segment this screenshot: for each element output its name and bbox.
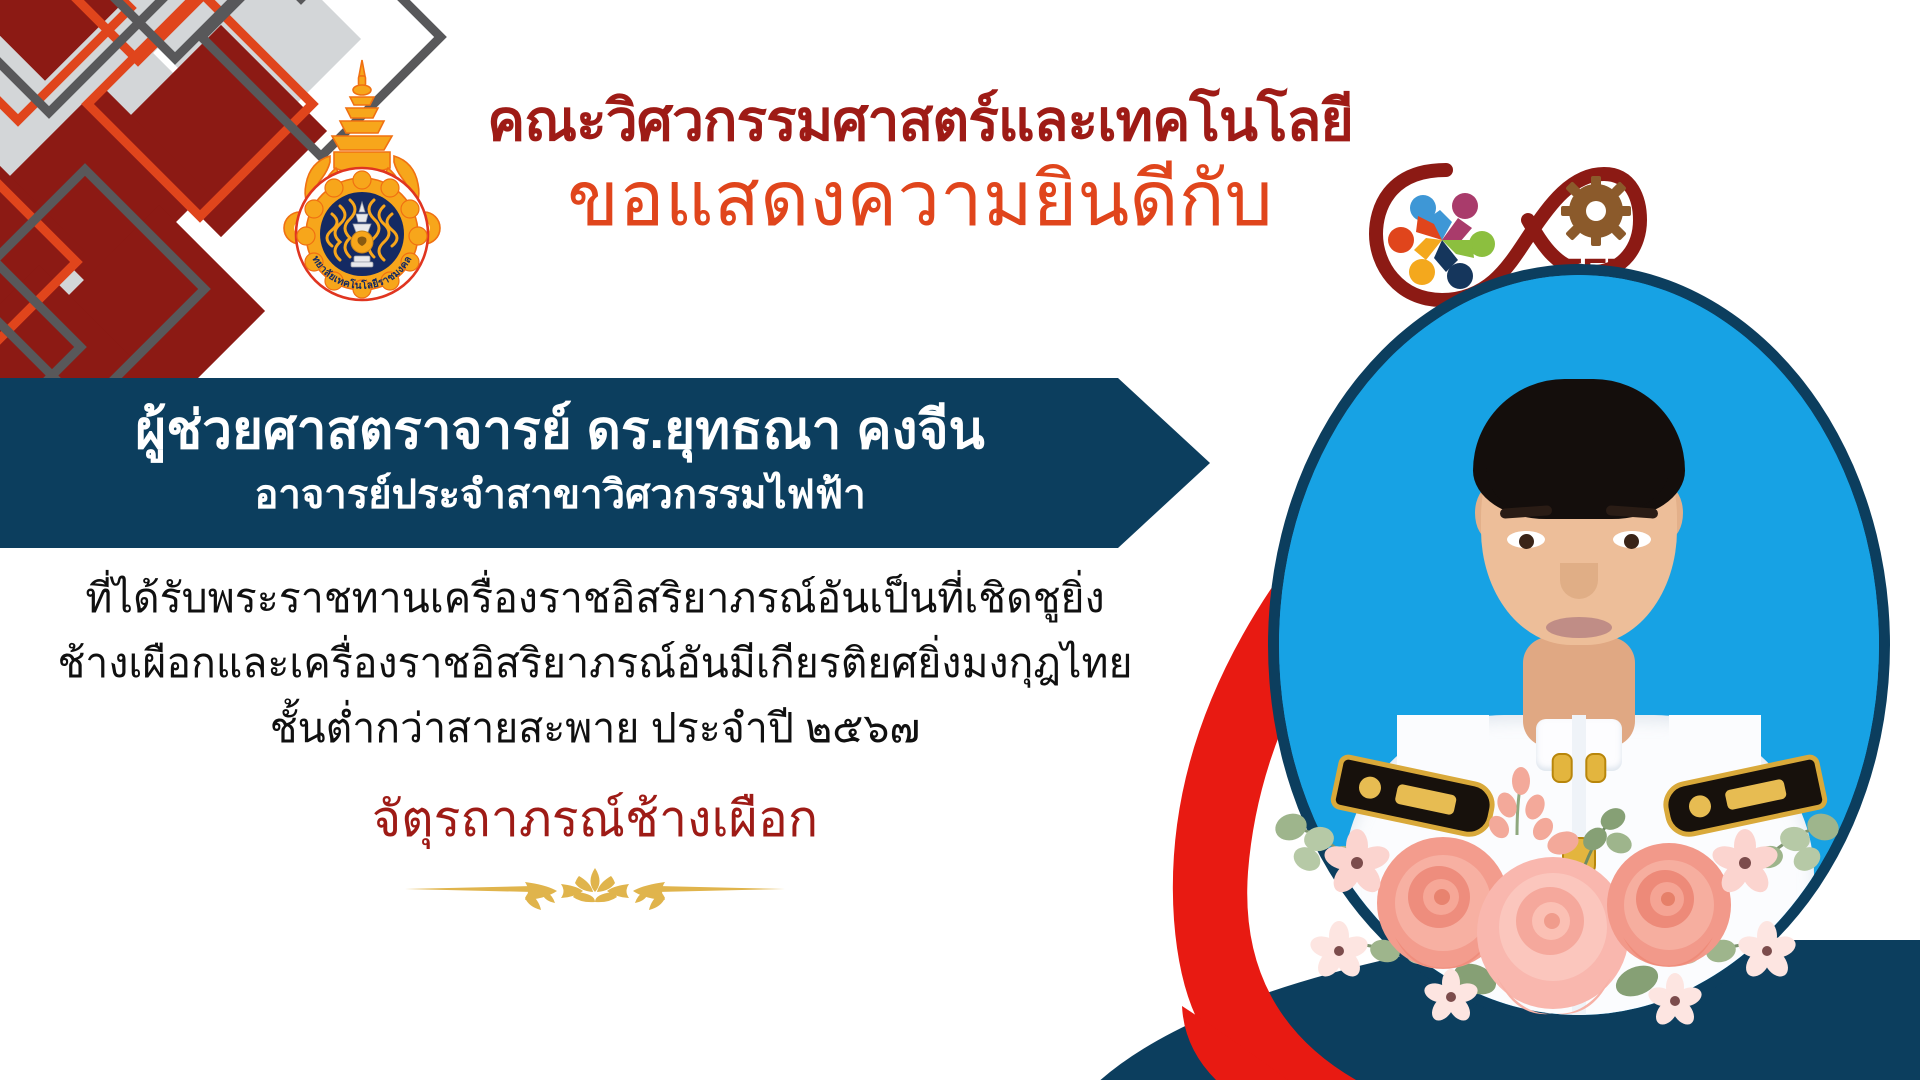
decor-square-outline-gray [175, 0, 427, 5]
decor-square-outline-orange [19, 0, 257, 67]
portrait-pupil-right [1624, 534, 1639, 549]
congratulation-banner: มหาวิทยาลัยเทคโนโลยีราชมงคลอีสาน คณะวิศว… [0, 0, 1920, 1080]
gold-ornament-divider [405, 862, 785, 916]
uniform-medal-button [1562, 837, 1596, 879]
honoree-name: ผู้ช่วยศาสตราจารย์ ดร.ยุทธณา คงจีน [0, 388, 1120, 472]
uniform-button [1585, 753, 1606, 783]
decor-square-outline-gray [0, 0, 175, 119]
citation-line-3: ชั้นต่ำกว่าสายสะพาย ประจำปี ๒๕๖๗ [40, 696, 1150, 761]
uniform-button [1552, 753, 1573, 783]
decor-square-gray [0, 0, 121, 111]
portrait-pupil-left [1519, 534, 1534, 549]
honoree-position: อาจารย์ประจำสาขาวิศวกรรมไฟฟ้า [0, 462, 1120, 526]
citation-line-2: ช้างเผือกและเครื่องราชอิสริยาภรณ์อันมีเก… [40, 631, 1150, 696]
citation-paragraph: ที่ได้รับพระราชทานเครื่องราชอิสริยาภรณ์อ… [40, 566, 1150, 760]
decor-square-outline-orange [0, 143, 83, 381]
honoree-ribbon: ผู้ช่วยศาสตราจารย์ ดร.ยุทธณา คงจีน อาจาร… [0, 378, 1210, 548]
decor-square-outline-orange [0, 0, 137, 127]
faculty-title: คณะวิศวกรรมศาสตร์และเทคโนโลยี [470, 92, 1370, 152]
citation-line-1: ที่ได้รับพระราชทานเครื่องราชอิสริยาภรณ์อ… [40, 566, 1150, 631]
honoree-portrait [1268, 264, 1890, 1026]
decor-square-gray [0, 29, 71, 241]
decor-square-red [0, 145, 85, 357]
rmuti-university-seal: มหาวิทยาลัยเทคโนโลยีราชมงคลอีสาน [262, 52, 462, 302]
headline-block: คณะวิศวกรรมศาสตร์และเทคโนโลยี ขอแสดงความ… [470, 92, 1370, 241]
decor-square-gray [0, 165, 137, 377]
portrait-mouth [1546, 617, 1612, 638]
award-title: จัตุรถาภรณ์ช้างเผือก [40, 780, 1150, 859]
decor-square-red [0, 0, 123, 81]
decor-square-gray [29, 0, 241, 71]
gear-icon [1561, 176, 1631, 246]
decor-square-gray [0, 0, 197, 203]
decor-square-red [0, 85, 207, 297]
congratulations-title: ขอแสดงความยินดีกับ [470, 158, 1370, 242]
